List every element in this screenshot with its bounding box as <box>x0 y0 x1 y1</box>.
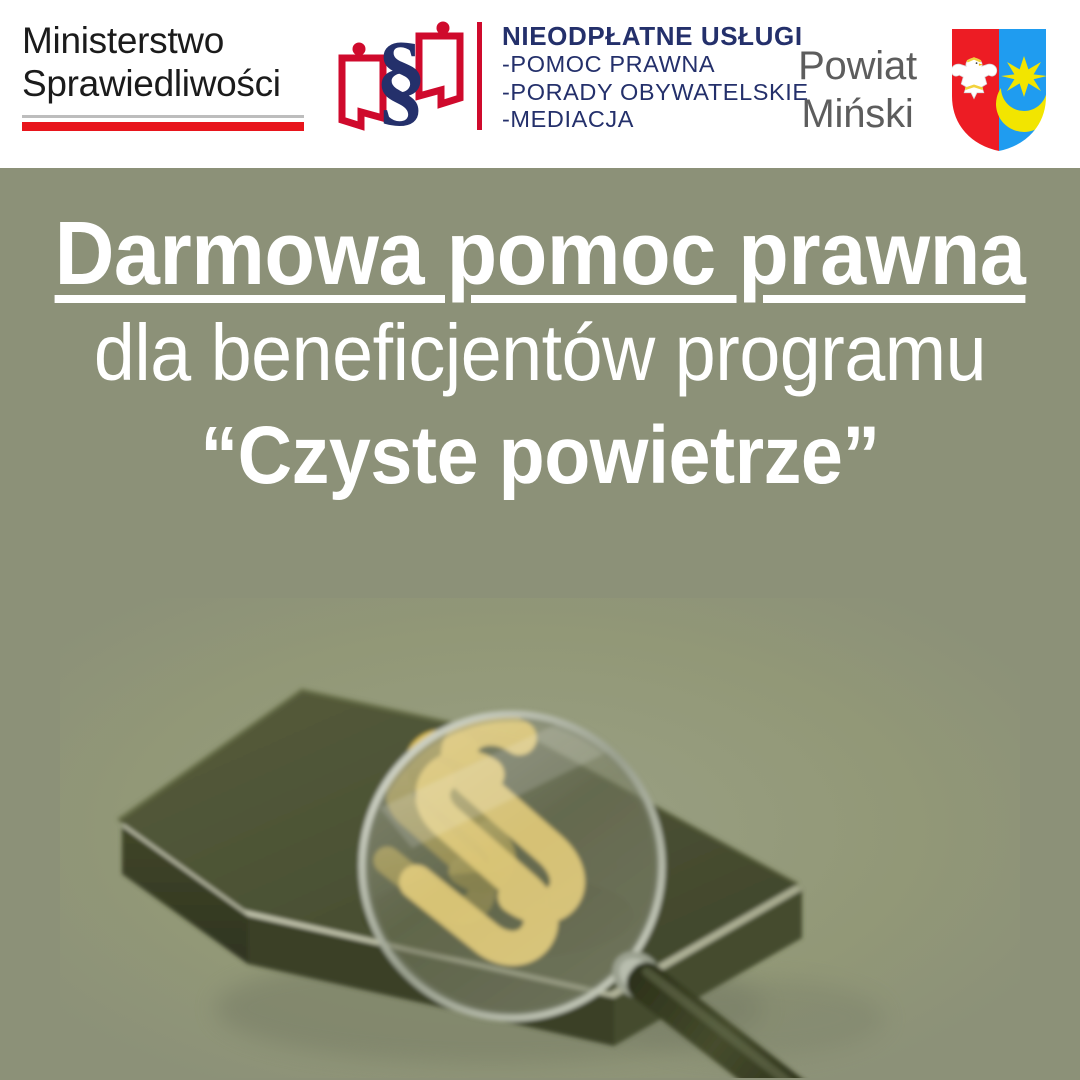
ministry-logo: Ministerstwo Sprawiedliwości <box>22 20 312 131</box>
powiat-line-2: Miński <box>780 90 935 138</box>
powiat-line-1: Powiat <box>780 42 935 90</box>
npp-item-0: -POMOC PRAWNA <box>502 51 809 78</box>
npp-item-1: -PORADY OBYWATELSKIE <box>502 79 809 106</box>
headline-line-2: dla beneficjentów programu <box>43 303 1037 404</box>
main-content: Darmowa pomoc prawna dla beneficjentów p… <box>0 168 1080 1080</box>
headline-line-1: Darmowa pomoc prawna <box>43 206 1037 303</box>
header-logo-bar: Ministerstwo Sprawiedliwości § <box>0 0 1080 168</box>
npp-item-2: -MEDIACJA <box>502 106 809 133</box>
npp-paragraph-bubbles-icon: § <box>337 16 465 136</box>
npp-text-block: NIEODPŁATNE USŁUGI -POMOC PRAWNA -PORADY… <box>502 16 809 134</box>
ministry-line-1: Ministerstwo <box>22 20 312 63</box>
npp-heading: NIEODPŁATNE USŁUGI <box>502 22 809 51</box>
powiat-minski-logo: Powiat Miński <box>780 26 1049 154</box>
powiat-text: Powiat Miński <box>780 42 935 138</box>
poster: Ministerstwo Sprawiedliwości § <box>0 0 1080 1080</box>
svg-text:§: § <box>375 21 427 136</box>
book-and-magnifier-illustration <box>60 598 1020 1078</box>
ministry-red-rule <box>22 122 304 131</box>
book-magnifier-svg <box>60 598 1020 1078</box>
powiat-coat-of-arms-icon <box>949 26 1049 154</box>
ministry-grey-rule <box>22 115 304 118</box>
headline-line-3: “Czyste powietrze” <box>43 404 1037 509</box>
headline-block: Darmowa pomoc prawna dla beneficjentów p… <box>0 206 1080 509</box>
npp-logo: § NIEODPŁATNE USŁUGI -POMOC PRAWNA -PORA… <box>337 16 809 136</box>
ministry-rules <box>22 115 304 131</box>
ministry-line-2: Sprawiedliwości <box>22 63 312 106</box>
npp-divider <box>477 22 482 130</box>
